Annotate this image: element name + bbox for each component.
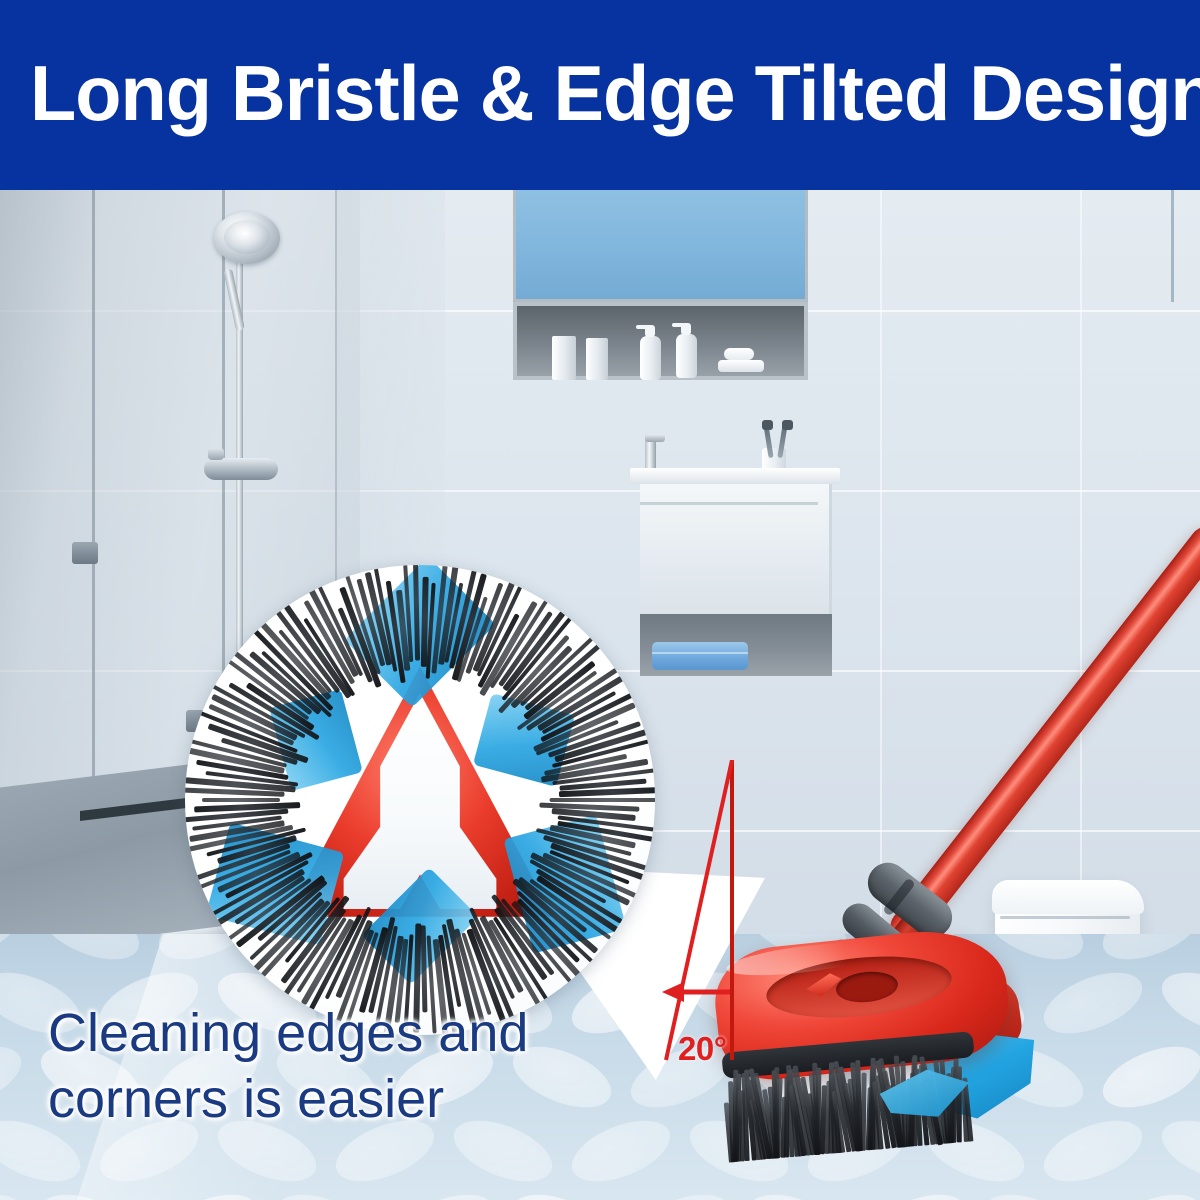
callout-circle — [185, 565, 655, 1035]
caption-line-1: Cleaning edges and — [48, 1000, 688, 1066]
bristle — [202, 798, 280, 802]
caption-block: Cleaning edges and corners is easier — [48, 1000, 688, 1132]
bristle — [957, 1066, 962, 1142]
angle-arrow-head — [662, 982, 684, 1002]
header-banner: Long Bristle & Edge Tilted Design — [0, 0, 1200, 190]
caption-line-2: corners is easier — [48, 1066, 688, 1132]
brush-pole — [884, 520, 1200, 951]
page-title: Long Bristle & Edge Tilted Design — [30, 50, 1146, 136]
